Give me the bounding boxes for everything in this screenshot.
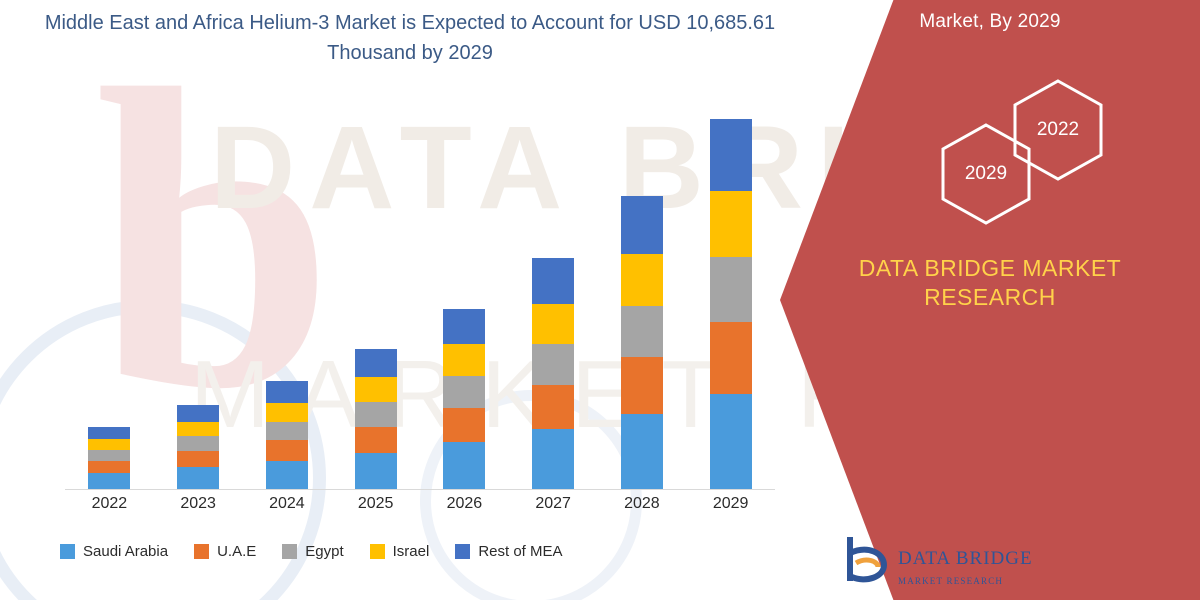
- x-tick-label: 2025: [336, 495, 416, 513]
- bar-segment-u-a-e: [710, 322, 752, 393]
- bar-column: [532, 258, 574, 489]
- legend-item: Israel: [370, 543, 430, 560]
- hexagon-badges: 2022 2029: [940, 100, 1190, 230]
- x-tick-label: 2023: [158, 495, 238, 513]
- brand-name-line2: RESEARCH: [780, 284, 1200, 311]
- logo-text-line2: MARKET RESEARCH: [898, 576, 1003, 586]
- bar-segment-u-a-e: [621, 357, 663, 414]
- x-tick-label: 2024: [247, 495, 327, 513]
- panel-title: Market, By 2029: [780, 0, 1200, 33]
- bar-segment-saudi-arabia: [355, 453, 397, 489]
- bar-segment-egypt: [443, 376, 485, 408]
- legend-item: U.A.E: [194, 543, 256, 560]
- hexagon-2029-label: 2029: [940, 122, 1032, 226]
- bar-segment-saudi-arabia: [88, 473, 130, 489]
- bar-column: [443, 309, 485, 489]
- bar-segment-rest-of-mea: [710, 119, 752, 191]
- legend-label: Egypt: [305, 543, 343, 560]
- bar-segment-rest-of-mea: [355, 349, 397, 377]
- bar-segment-u-a-e: [355, 427, 397, 454]
- hexagon-2029: 2029: [940, 122, 1032, 226]
- legend-swatch-icon: [370, 544, 385, 559]
- bar-segment-rest-of-mea: [177, 405, 219, 422]
- bar-segment-israel: [355, 377, 397, 402]
- legend-item: Egypt: [282, 543, 343, 560]
- bar-segment-egypt: [710, 257, 752, 322]
- x-tick-label: 2027: [513, 495, 593, 513]
- legend-swatch-icon: [455, 544, 470, 559]
- legend-item: Saudi Arabia: [60, 543, 168, 560]
- right-brand-panel: Market, By 2029 2022 2029 DATA BRIDGE MA…: [780, 0, 1200, 600]
- bar-column: [88, 427, 130, 489]
- bar-segment-israel: [621, 254, 663, 306]
- x-tick-label: 2026: [424, 495, 504, 513]
- legend-swatch-icon: [60, 544, 75, 559]
- bar-segment-u-a-e: [266, 440, 308, 461]
- bar-segment-israel: [88, 439, 130, 450]
- legend-label: Saudi Arabia: [83, 543, 168, 560]
- legend-swatch-icon: [194, 544, 209, 559]
- x-tick-label: 2028: [602, 495, 682, 513]
- bar-segment-egypt: [88, 450, 130, 461]
- bar-segment-israel: [443, 344, 485, 376]
- bar-column: [621, 196, 663, 489]
- bar-segment-saudi-arabia: [532, 429, 574, 489]
- bar-segment-egypt: [355, 402, 397, 427]
- x-axis-line: [65, 489, 775, 490]
- bar-segment-israel: [266, 403, 308, 422]
- bar-segment-u-a-e: [88, 461, 130, 473]
- bar-segment-israel: [710, 191, 752, 256]
- bar-segment-saudi-arabia: [177, 467, 219, 489]
- stacked-bar-chart: [40, 100, 785, 490]
- bar-segment-israel: [177, 422, 219, 437]
- bar-segment-rest-of-mea: [532, 258, 574, 304]
- legend-swatch-icon: [282, 544, 297, 559]
- chart-plot-area: [65, 100, 775, 490]
- bar-segment-israel: [532, 304, 574, 345]
- bar-segment-u-a-e: [177, 451, 219, 467]
- bar-segment-u-a-e: [443, 408, 485, 443]
- bar-segment-egypt: [177, 436, 219, 451]
- legend-label: U.A.E: [217, 543, 256, 560]
- legend-label: Rest of MEA: [478, 543, 562, 560]
- chart-title: Middle East and Africa Helium-3 Market i…: [40, 8, 780, 68]
- bar-segment-saudi-arabia: [621, 414, 663, 489]
- bar-column: [177, 405, 219, 489]
- bar-segment-u-a-e: [532, 385, 574, 430]
- bar-segment-saudi-arabia: [266, 461, 308, 489]
- x-axis-tick-labels: 20222023202420252026202720282029: [65, 495, 810, 521]
- bar-segment-egypt: [532, 344, 574, 385]
- bar-segment-egypt: [266, 422, 308, 441]
- brand-name-line1: DATA BRIDGE MARKET: [780, 255, 1200, 282]
- x-tick-label: 2022: [69, 495, 149, 513]
- bar-segment-saudi-arabia: [710, 394, 752, 489]
- legend-item: Rest of MEA: [455, 543, 562, 560]
- bar-segment-egypt: [621, 306, 663, 358]
- bar-segment-rest-of-mea: [621, 196, 663, 254]
- bar-column: [355, 349, 397, 489]
- bar-segment-rest-of-mea: [266, 381, 308, 403]
- x-tick-label: 2029: [691, 495, 771, 513]
- company-logo: DATA BRIDGE MARKET RESEARCH: [840, 536, 1050, 596]
- bar-column: [266, 381, 308, 489]
- bar-column: [710, 119, 752, 489]
- logo-text-line1: DATA BRIDGE: [898, 548, 1033, 570]
- bar-segment-saudi-arabia: [443, 442, 485, 489]
- legend-label: Israel: [393, 543, 430, 560]
- bar-segment-rest-of-mea: [88, 427, 130, 440]
- logo-mark-icon: [840, 533, 892, 590]
- bar-segment-rest-of-mea: [443, 309, 485, 345]
- chart-legend: Saudi ArabiaU.A.EEgyptIsraelRest of MEA: [60, 538, 800, 564]
